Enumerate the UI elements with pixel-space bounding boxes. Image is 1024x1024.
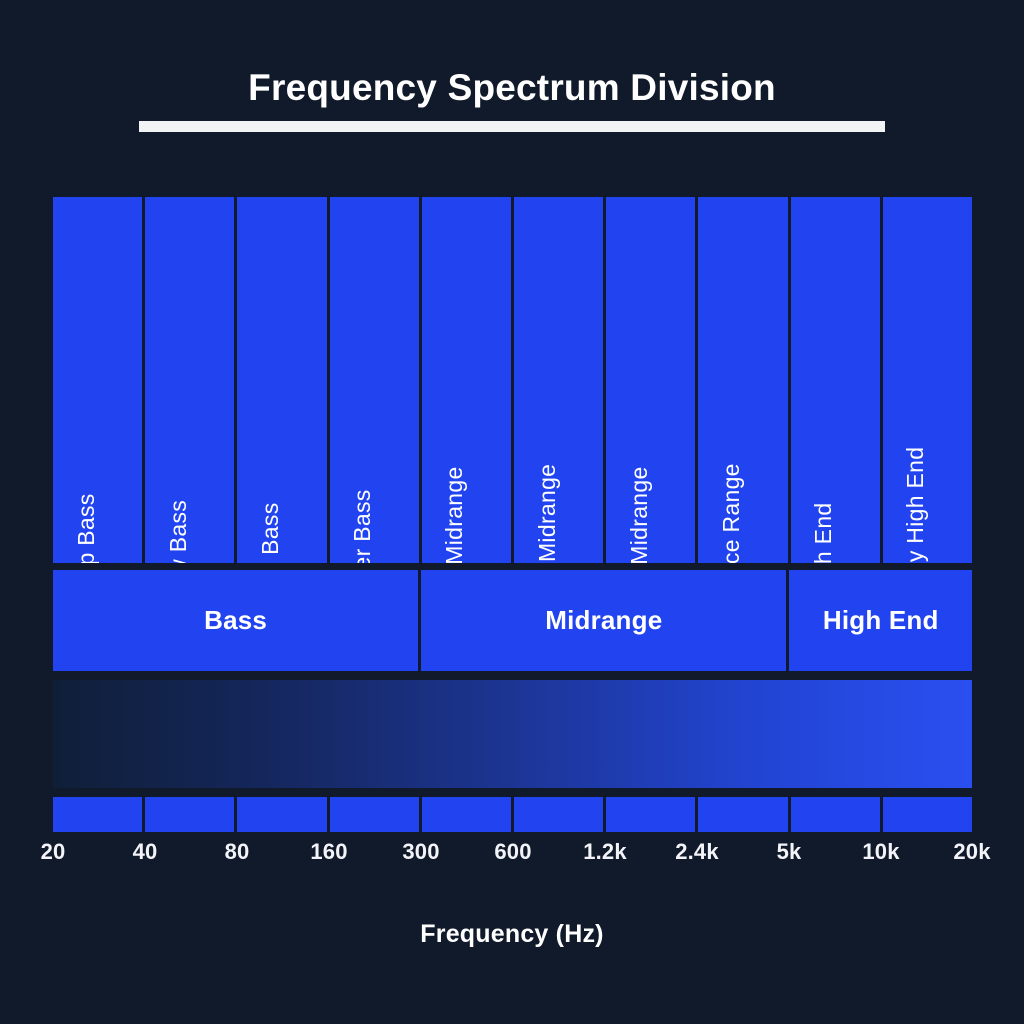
band-cell-extremely-high-end[interactable]: Extremely High End <box>883 197 972 563</box>
tick-label: 1.2k <box>583 839 627 865</box>
tick-label: 5k <box>777 839 802 865</box>
tick-block <box>606 797 695 832</box>
band-cell-deep-bass[interactable]: Deep Bass <box>53 197 142 563</box>
band-label: Extremely High End <box>904 447 927 563</box>
band-label: Upper Midrange <box>628 466 651 563</box>
band-label: Presence Range <box>720 463 743 563</box>
title-underline-bar <box>139 121 885 132</box>
band-cell-low-bass[interactable]: Low Bass <box>145 197 234 563</box>
band-label: Mid Bass <box>259 503 282 563</box>
tick-label: 160 <box>310 839 347 865</box>
band-label: Low Bass <box>167 500 190 563</box>
tick-label: 20k <box>953 839 990 865</box>
tick-label: 10k <box>862 839 899 865</box>
group-cell-midrange[interactable]: Midrange <box>421 570 786 671</box>
band-cell-high-end[interactable]: High End <box>791 197 880 563</box>
spectrum-gradient-strip <box>53 680 972 788</box>
tick-block <box>145 797 234 832</box>
tick-block <box>514 797 603 832</box>
group-cell-bass[interactable]: Bass <box>53 570 418 671</box>
band-label: Lower Midrange <box>443 466 466 563</box>
tick-block <box>791 797 880 832</box>
tick-block-row <box>53 797 972 832</box>
band-row: Deep Bass Low Bass Mid Bass Upper Bass L… <box>53 197 972 563</box>
band-label: Upper Bass <box>351 489 374 563</box>
band-cell-upper-bass[interactable]: Upper Bass <box>330 197 419 563</box>
tick-label: 600 <box>494 839 531 865</box>
band-cell-lower-midrange[interactable]: Lower Midrange <box>422 197 511 563</box>
title-block: Frequency Spectrum Division <box>0 64 1024 132</box>
tick-label: 80 <box>225 839 250 865</box>
tick-block <box>330 797 419 832</box>
tick-label: 300 <box>402 839 439 865</box>
page-title: Frequency Spectrum Division <box>0 64 1024 112</box>
band-label: Deep Bass <box>75 493 98 563</box>
tick-block <box>698 797 787 832</box>
tick-label: 20 <box>41 839 66 865</box>
group-cell-high-end[interactable]: High End <box>789 570 972 671</box>
tick-block <box>53 797 142 832</box>
tick-block <box>883 797 972 832</box>
band-cell-middle-midrange[interactable]: Middle Midrange <box>514 197 603 563</box>
axis-tick-labels: 20 40 80 160 300 600 1.2k 2.4k 5k 10k 20… <box>0 839 1024 869</box>
group-row: Bass Midrange High End <box>53 570 972 671</box>
tick-label: 40 <box>133 839 158 865</box>
band-label: Middle Midrange <box>536 464 559 563</box>
tick-block <box>237 797 326 832</box>
frequency-spectrum-chart: Deep Bass Low Bass Mid Bass Upper Bass L… <box>53 197 972 832</box>
band-cell-presence-range[interactable]: Presence Range <box>698 197 787 563</box>
band-label: High End <box>812 502 835 563</box>
band-cell-upper-midrange[interactable]: Upper Midrange <box>606 197 695 563</box>
axis-caption: Frequency (Hz) <box>0 920 1024 949</box>
tick-block <box>422 797 511 832</box>
tick-label: 2.4k <box>675 839 719 865</box>
band-cell-mid-bass[interactable]: Mid Bass <box>237 197 326 563</box>
